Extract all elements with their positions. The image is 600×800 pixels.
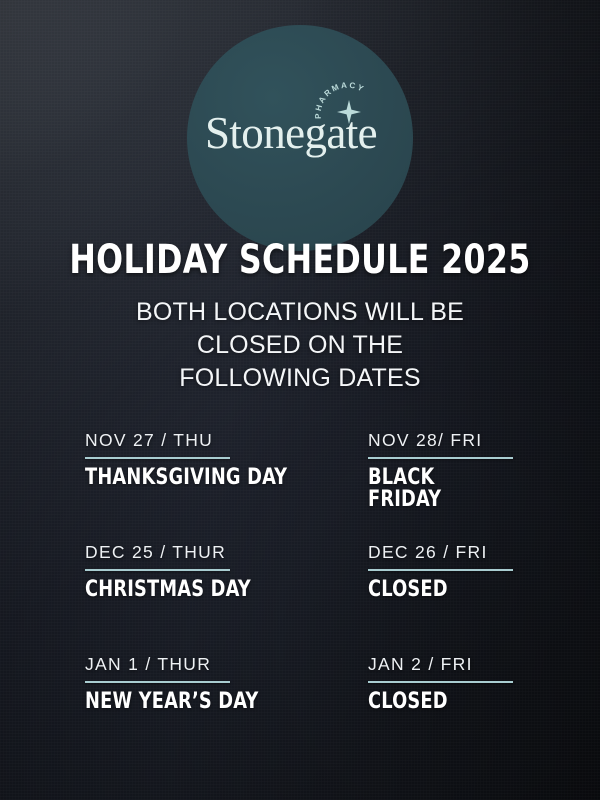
poster-subtitle: BOTH LOCATIONS WILL BE CLOSED ON THE FOL… [0,296,600,396]
entry-divider [85,681,230,683]
logo-pharmacy-badge: PHARMACY [318,83,380,145]
list-item: DEC 26 / FRI CLOSED [368,544,525,656]
holiday-schedule-poster: Stonegate PHARMACY HOLIDAY SCHEDULE 2025… [0,0,600,800]
entry-divider [368,681,513,683]
list-item: NOV 28/ FRI BLACK FRIDAY [368,432,525,544]
entry-holiday-name: CHRISTMAS DAY [85,579,340,601]
entry-date: JAN 2 / FRI [368,656,525,681]
logo-badge-arc-text: PHARMACY [314,81,367,119]
entry-holiday-name: CLOSED [368,579,509,601]
entry-date: NOV 28/ FRI [368,432,525,457]
entry-holiday-name: NEW YEAR’S DAY [85,691,340,713]
entry-holiday-name: BLACK FRIDAY [368,467,509,511]
entry-divider [85,457,230,459]
entry-divider [368,569,513,571]
sparkle-icon [337,100,361,124]
list-item: JAN 2 / FRI CLOSED [368,656,525,768]
entry-date: JAN 1 / THUR [85,656,368,681]
entry-holiday-name: CLOSED [368,691,509,713]
list-item: JAN 1 / THUR NEW YEAR’S DAY [85,656,368,768]
closure-dates-grid: NOV 27 / THU THANKSGIVING DAY NOV 28/ FR… [85,432,525,768]
stonegate-pharmacy-logo: Stonegate PHARMACY [187,25,413,251]
entry-divider [368,457,513,459]
list-item: DEC 25 / THUR CHRISTMAS DAY [85,544,368,656]
entry-divider [85,569,230,571]
list-item: NOV 27 / THU THANKSGIVING DAY [85,432,368,544]
entry-date: DEC 26 / FRI [368,544,525,569]
page-title: HOLIDAY SCHEDULE 2025 [36,240,564,282]
entry-date: NOV 27 / THU [85,432,368,457]
poster-headings: HOLIDAY SCHEDULE 2025 BOTH LOCATIONS WIL… [0,240,600,395]
logo-badge-text-path: PHARMACY [314,81,367,119]
entry-holiday-name: THANKSGIVING DAY [85,467,340,489]
entry-date: DEC 25 / THUR [85,544,368,569]
